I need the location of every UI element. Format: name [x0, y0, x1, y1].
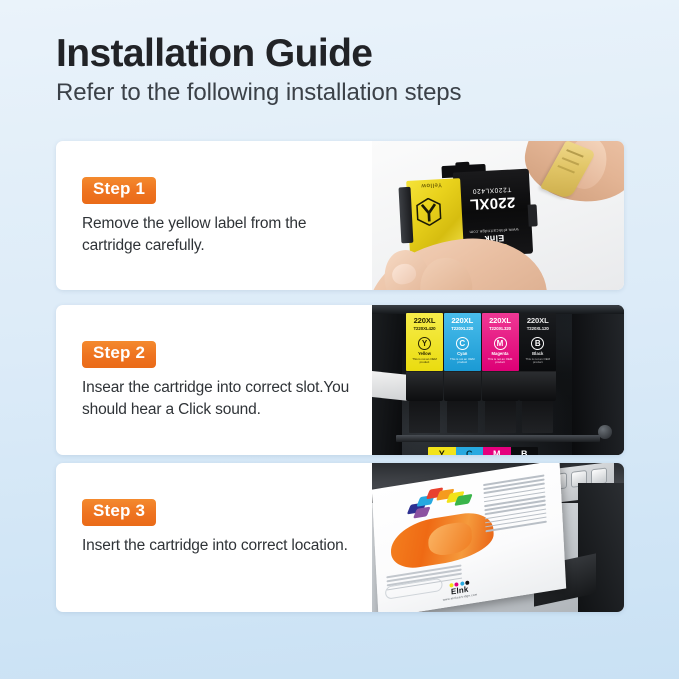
- page-header: Installation Guide Refer to the followin…: [56, 32, 636, 106]
- printed-page: Elnk www.elnkcartridge.com: [372, 463, 566, 612]
- cartridge-body-cyan: [444, 371, 481, 401]
- step-card-3: Step 3 Insert the cartridge into correct…: [56, 463, 624, 612]
- step-3-text-panel: Step 3 Insert the cartridge into correct…: [56, 463, 372, 612]
- step-1-text-panel: Step 1 Remove the yellow label from the …: [56, 141, 372, 290]
- label-part-number: T220XL220: [444, 326, 481, 331]
- label-model: 220XL: [444, 317, 481, 325]
- cartridge-foot-black: [522, 401, 553, 433]
- step-3-description: Insert the cartridge into correct locati…: [82, 535, 368, 557]
- label-warning-black: This is not an OEM product: [519, 358, 556, 365]
- step-1-description: Remove the yellow label from the cartrid…: [82, 213, 368, 257]
- label-part-number: T220XL120: [519, 326, 556, 331]
- color-name-magenta: Magenta: [482, 351, 519, 356]
- cartridge-label-magenta: 220XL T220XL320 M Magenta This is not an…: [482, 313, 519, 371]
- color-indicator-bar: Y C M B: [428, 447, 538, 455]
- label-warning-yellow: This is not an OEM product: [406, 358, 443, 365]
- label-model: 220XL: [482, 317, 519, 325]
- color-letter-badge-c: C: [456, 337, 469, 350]
- step-card-2: Step 2 Insear the cartridge into correct…: [56, 305, 624, 455]
- printed-text-block-1: [483, 474, 547, 534]
- step-1-photo: Yellow 220XL T220XL420 Elnk www.elnkcart…: [372, 141, 624, 290]
- step-2-text-panel: Step 2 Insear the cartridge into correct…: [56, 305, 372, 455]
- step-1-badge: Step 1: [82, 177, 156, 204]
- printer-knob: [598, 425, 612, 439]
- cartridge-foot-yellow: [409, 401, 440, 433]
- page-title: Installation Guide: [56, 32, 636, 76]
- cartridge-body-magenta: [482, 371, 519, 401]
- cartridge-label-cyan: 220XL T220XL220 C Cyan This is not an OE…: [444, 313, 481, 371]
- page-subtitle: Refer to the following installation step…: [56, 79, 636, 107]
- cartridge-right-tab: [528, 204, 538, 226]
- step-3-photo: Elnk www.elnkcartridge.com: [372, 463, 624, 612]
- color-letter-badge-m: M: [494, 337, 507, 350]
- label-part-number: T220XL420: [406, 326, 443, 331]
- step-2-badge: Step 2: [82, 341, 156, 368]
- step-3-badge: Step 3: [82, 499, 156, 526]
- label-warning-magenta: This is not an OEM product: [482, 358, 519, 365]
- cartridge-slot-black: 220XL T220XL120 B Black This is not an O…: [519, 309, 556, 437]
- step-2-photo: 220XL T220XL420 Y Yellow This is not an …: [372, 305, 624, 455]
- printed-orange-graphic: [390, 509, 495, 571]
- cartridge-label-black: 220XL T220XL120 B Black This is not an O…: [519, 313, 556, 371]
- cartridge-slot-magenta: 220XL T220XL320 M Magenta This is not an…: [482, 309, 519, 437]
- color-letter-badge-b: B: [531, 337, 544, 350]
- cartridge-slot-cyan: 220XL T220XL220 C Cyan This is not an OE…: [444, 309, 481, 437]
- step-card-1: Step 1 Remove the yellow label from the …: [56, 141, 624, 290]
- label-warning-cyan: This is not an OEM product: [444, 358, 481, 365]
- color-name-black: Black: [519, 351, 556, 356]
- cartridge-model-print: 220XL T220XL420: [457, 185, 528, 214]
- color-name-yellow: Yellow: [406, 351, 443, 356]
- cartridge-foot-magenta: [485, 401, 516, 433]
- color-letter-badge-y: Y: [418, 337, 431, 350]
- label-model: 220XL: [406, 317, 443, 325]
- cartridge-slot-yellow: 220XL T220XL420 Y Yellow This is not an …: [406, 309, 443, 437]
- color-indicator-b: B: [511, 447, 539, 455]
- carriage-rail: [396, 435, 600, 442]
- label-model: 220XL: [519, 317, 556, 325]
- cartridge-foot-cyan: [447, 401, 478, 433]
- cartridge-body-black: [519, 371, 556, 401]
- step-2-description: Insear the cartridge into correct slot.Y…: [82, 377, 368, 421]
- color-indicator-m: M: [483, 447, 511, 455]
- cartridge-carriage: 220XL T220XL420 Y Yellow This is not an …: [406, 309, 556, 437]
- cartridge-body-yellow: [406, 371, 443, 401]
- color-indicator-y: Y: [428, 447, 456, 455]
- label-part-number: T220XL320: [482, 326, 519, 331]
- cartridge-label-yellow: 220XL T220XL420 Y Yellow This is not an …: [406, 313, 443, 371]
- color-indicator-c: C: [456, 447, 484, 455]
- color-name-cyan: Cyan: [444, 351, 481, 356]
- yellow-hexagon-y-icon: [415, 197, 442, 226]
